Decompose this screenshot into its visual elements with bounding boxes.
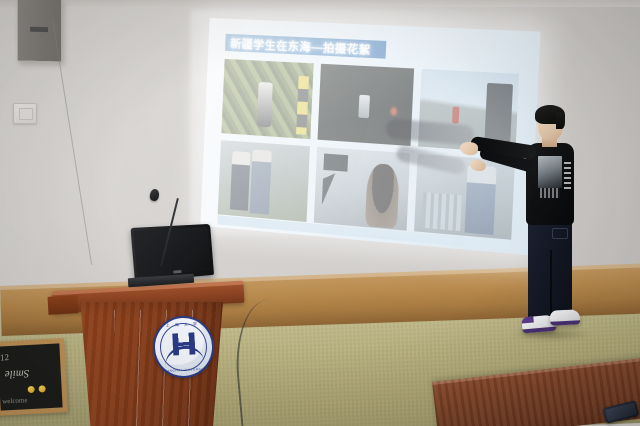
chalkboard-line-1: 12 — [0, 352, 9, 362]
presenter-hand-pointing — [459, 141, 478, 156]
presenter-pocket — [552, 228, 568, 239]
wall-outlet-plate[interactable] — [13, 103, 37, 124]
speaker-grille-icon — [30, 27, 48, 32]
lecture-room-scene: 新疆学生在东海—拍摄花絮 上 海 大 学 SHANGHAI UNIVERSIT — [0, 0, 640, 426]
chalkboard-line-2: Smile — [5, 367, 30, 380]
presenter-hand-lower — [469, 158, 487, 172]
laptop-screen — [134, 227, 211, 277]
presenter-shoe-right — [550, 309, 581, 326]
laptop-computer[interactable] — [130, 224, 214, 282]
shirt-graphic-text — [540, 188, 560, 198]
shirt-graphic-print — [538, 156, 562, 188]
chalkboard-dot-1 — [27, 386, 34, 393]
sleeve-lettering — [564, 162, 571, 192]
chalkboard-dot-2 — [38, 385, 45, 392]
slide-photo-4 — [218, 140, 310, 222]
slide-photo-5 — [314, 147, 410, 231]
shoe-accent-left — [521, 316, 533, 323]
presenter-hair-side — [556, 112, 565, 129]
laptop-logo-icon — [173, 270, 181, 274]
standing-presenter — [452, 100, 592, 360]
university-emblem: 上 海 大 学 SHANGHAI UNIVERSITY — [151, 314, 215, 379]
shoe-sole-right — [550, 320, 580, 326]
lectern-side-shelf — [48, 295, 79, 315]
chalkboard-line-3: welcome — [2, 396, 28, 405]
slide-photo-1 — [221, 59, 313, 139]
ceiling-edge — [0, 0, 640, 7]
outlet-socket-icon — [19, 108, 33, 120]
